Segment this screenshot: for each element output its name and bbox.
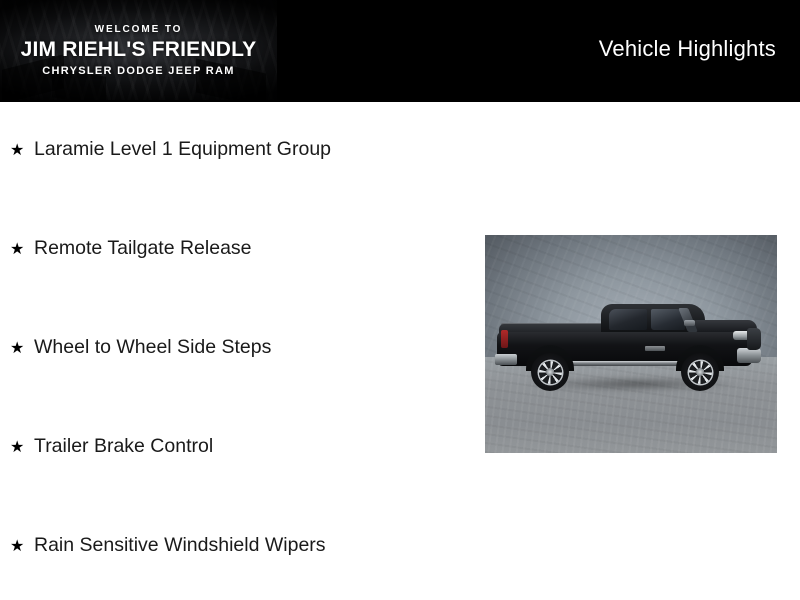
logo-brands-text: CHRYSLER DODGE JEEP RAM xyxy=(42,64,234,78)
truck-front-wheel xyxy=(681,353,719,391)
star-bullet-icon: ★ xyxy=(10,341,34,357)
star-bullet-icon: ★ xyxy=(10,539,34,555)
truck-rear-hub xyxy=(546,368,554,376)
star-bullet-icon: ★ xyxy=(10,242,34,258)
truck-tail-light xyxy=(501,330,508,348)
list-item: ★ Laramie Level 1 Equipment Group xyxy=(10,140,331,160)
list-item: ★ Wheel to Wheel Side Steps xyxy=(10,338,271,358)
page-title: Vehicle Highlights xyxy=(599,36,776,62)
list-item-label: Laramie Level 1 Equipment Group xyxy=(34,140,331,160)
logo-welcome-text: WELCOME TO xyxy=(95,23,183,36)
dealer-logo[interactable]: WELCOME TO JIM RIEHL'S FRIENDLY CHRYSLER… xyxy=(0,0,277,100)
dealer-logo-text: WELCOME TO JIM RIEHL'S FRIENDLY CHRYSLER… xyxy=(0,0,277,100)
vehicle-photo[interactable] xyxy=(485,235,777,453)
truck-front-hub xyxy=(696,368,704,376)
truck-grille xyxy=(747,328,761,350)
page-header: WELCOME TO JIM RIEHL'S FRIENDLY CHRYSLER… xyxy=(0,0,800,102)
list-item-label: Rain Sensitive Windshield Wipers xyxy=(34,536,326,556)
list-item: ★ Rain Sensitive Windshield Wipers xyxy=(10,536,326,556)
truck-rear-wheel xyxy=(531,353,569,391)
truck-front-bumper xyxy=(737,348,761,363)
list-item: ★ Remote Tailgate Release xyxy=(10,239,252,259)
list-item-label: Trailer Brake Control xyxy=(34,437,213,457)
list-item-label: Remote Tailgate Release xyxy=(34,239,252,259)
star-bullet-icon: ★ xyxy=(10,440,34,456)
truck-illustration xyxy=(495,298,767,390)
truck-rear-window xyxy=(609,309,647,330)
list-item-label: Wheel to Wheel Side Steps xyxy=(34,338,271,358)
truck-ram-badge xyxy=(645,346,665,351)
vehicle-highlights-list: ★ Laramie Level 1 Equipment Group ★ Remo… xyxy=(0,102,470,600)
list-item: ★ Trailer Brake Control xyxy=(10,437,213,457)
logo-dealer-name: JIM RIEHL'S FRIENDLY xyxy=(21,37,257,62)
truck-side-mirror xyxy=(684,320,695,326)
truck-rear-bumper xyxy=(495,354,517,365)
star-bullet-icon: ★ xyxy=(10,143,34,159)
